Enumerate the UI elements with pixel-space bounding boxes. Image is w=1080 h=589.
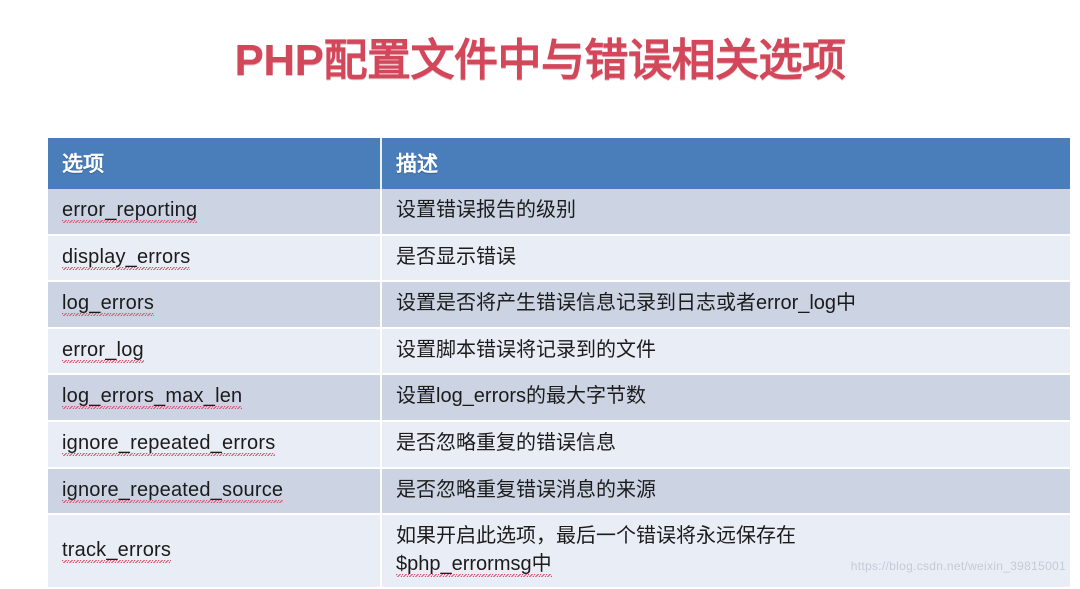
description-line: 是否忽略重复的错误信息 <box>396 430 1070 458</box>
option-name-cell: log_errors <box>48 282 382 329</box>
option-description-cell: 是否忽略重复的错误信息 <box>382 422 1070 469</box>
column-header-option: 选项 <box>48 138 382 189</box>
table-row: log_errors 设置是否将产生错误信息记录到日志或者error_log中 <box>48 282 1070 329</box>
option-description-cell: 设置log_errors的最大字节数 <box>382 375 1070 422</box>
php-error-options-table: 选项 描述 error_reporting 设置错误报告的级别 display_… <box>48 138 1070 589</box>
option-name-text: error_reporting <box>62 199 197 223</box>
option-name-cell: error_log <box>48 329 382 376</box>
table-header: 选项 描述 <box>48 138 1070 189</box>
table-row: ignore_repeated_source 是否忽略重复错误消息的来源 <box>48 469 1070 516</box>
option-name-text: log_errors_max_len <box>62 385 242 409</box>
page-title: PHP配置文件中与错误相关选项 <box>0 36 1080 87</box>
source-watermark: https://blog.csdn.net/weixin_39815001 <box>851 559 1066 573</box>
option-description-cell: 如果开启此选项，最后一个错误将永远保存在 $php_errormsg中 <box>382 515 1070 589</box>
option-description-cell: 是否显示错误 <box>382 236 1070 283</box>
option-name-text: log_errors <box>62 292 154 316</box>
description-line-2-text: $php_errormsg中 <box>396 553 552 577</box>
table-row: error_reporting 设置错误报告的级别 <box>48 189 1070 236</box>
table-row: display_errors 是否显示错误 <box>48 236 1070 283</box>
table-header-row: 选项 描述 <box>48 138 1070 189</box>
table-row: track_errors 如果开启此选项，最后一个错误将永远保存在 $php_e… <box>48 515 1070 589</box>
table-body: error_reporting 设置错误报告的级别 display_errors… <box>48 189 1070 589</box>
option-name-text: track_errors <box>62 539 171 563</box>
option-name-text: ignore_repeated_source <box>62 479 283 503</box>
description-line: 是否显示错误 <box>396 244 1070 272</box>
option-description-cell: 设置是否将产生错误信息记录到日志或者error_log中 <box>382 282 1070 329</box>
column-header-description: 描述 <box>382 138 1070 189</box>
option-description-cell: 设置脚本错误将记录到的文件 <box>382 329 1070 376</box>
description-line: 是否忽略重复错误消息的来源 <box>396 477 1070 505</box>
option-name-text: error_log <box>62 339 144 363</box>
description-line: 设置是否将产生错误信息记录到日志或者error_log中 <box>396 290 1070 318</box>
description-line: 设置脚本错误将记录到的文件 <box>396 337 1070 365</box>
option-description-cell: 设置错误报告的级别 <box>382 189 1070 236</box>
option-name-cell: log_errors_max_len <box>48 375 382 422</box>
option-name-text: ignore_repeated_errors <box>62 432 275 456</box>
description-line: 设置log_errors的最大字节数 <box>396 383 1070 411</box>
option-name-text: display_errors <box>62 246 190 270</box>
option-name-cell: display_errors <box>48 236 382 283</box>
table-row: error_log 设置脚本错误将记录到的文件 <box>48 329 1070 376</box>
option-description-cell: 是否忽略重复错误消息的来源 <box>382 469 1070 516</box>
option-name-cell: ignore_repeated_errors <box>48 422 382 469</box>
option-name-cell: track_errors <box>48 515 382 589</box>
options-table-container: 选项 描述 error_reporting 设置错误报告的级别 display_… <box>48 138 1070 589</box>
option-name-cell: error_reporting <box>48 189 382 236</box>
table-row: log_errors_max_len 设置log_errors的最大字节数 <box>48 375 1070 422</box>
description-line: 设置错误报告的级别 <box>396 197 1070 225</box>
table-row: ignore_repeated_errors 是否忽略重复的错误信息 <box>48 422 1070 469</box>
description-line: 如果开启此选项，最后一个错误将永远保存在 <box>396 523 1070 551</box>
option-name-cell: ignore_repeated_source <box>48 469 382 516</box>
